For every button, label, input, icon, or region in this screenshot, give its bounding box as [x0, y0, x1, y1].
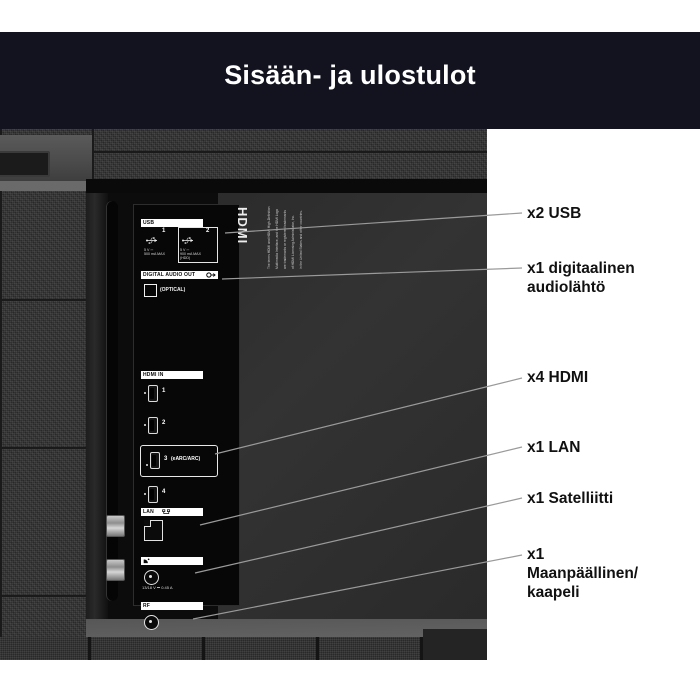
callout-hdmi-line-1: x4 HDMI: [527, 368, 588, 387]
callout-lan: x1 LAN: [527, 438, 580, 457]
callout-audio-out-line-1: x1 digitaalinen: [527, 259, 635, 278]
callout-audio-out-line-2: audiolähtö: [527, 278, 635, 297]
callout-terrestrial-line-2: Maanpäällinen/: [527, 564, 638, 583]
page-title: Sisään- ja ulostulot: [0, 60, 700, 91]
leader-line-audio-out: [222, 268, 522, 279]
leader-line-terrestrial: [193, 555, 522, 619]
screenshot-root: Sisään- ja ulostulot USB: [0, 0, 700, 700]
callout-terrestrial-line-1: x1: [527, 545, 638, 564]
callout-terrestrial: x1 Maanpäällinen/ kaapeli: [527, 545, 638, 602]
leader-line-lan: [200, 447, 522, 525]
leader-line-usb: [225, 213, 522, 233]
callout-lan-line-1: x1 LAN: [527, 438, 580, 457]
leader-line-satellite: [195, 498, 522, 573]
callout-terrestrial-line-3: kaapeli: [527, 583, 638, 602]
callout-satellite-line-1: x1 Satelliitti: [527, 489, 613, 508]
callout-satellite: x1 Satelliitti: [527, 489, 613, 508]
callout-audio-out: x1 digitaalinen audiolähtö: [527, 259, 635, 297]
callout-usb: x2 USB: [527, 204, 581, 223]
title-band: Sisään- ja ulostulot: [0, 32, 700, 129]
callout-hdmi: x4 HDMI: [527, 368, 588, 387]
callout-usb-line-1: x2 USB: [527, 204, 581, 223]
leader-line-hdmi: [215, 378, 522, 454]
